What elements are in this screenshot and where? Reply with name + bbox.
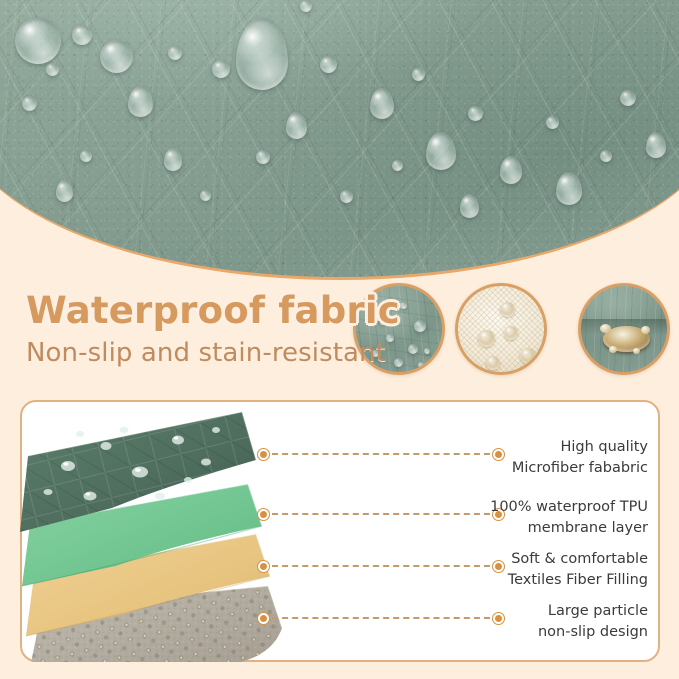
water-bead <box>486 356 500 370</box>
water-droplet <box>22 96 37 111</box>
water-droplet <box>72 25 92 45</box>
connector-dot-start <box>258 509 269 520</box>
water-droplet <box>468 106 483 121</box>
page-subtitle: Non-slip and stain-resistant <box>26 338 400 368</box>
water-droplet <box>546 116 559 129</box>
water-droplet <box>460 194 479 218</box>
layer-label-line2: membrane layer <box>478 518 648 539</box>
water-droplet <box>418 362 424 368</box>
water-droplet <box>300 0 312 12</box>
layer-label-line1: Soft & comfortable <box>511 551 648 567</box>
layer-label-line1: High quality <box>560 439 648 455</box>
spill-splash <box>609 346 617 353</box>
water-bead <box>478 330 495 347</box>
water-droplet <box>500 156 522 184</box>
connector-dot-start <box>258 561 269 572</box>
connector-dash <box>272 513 490 515</box>
water-droplet <box>412 68 425 81</box>
layer-label-tpu: 100% waterproof TPU membrane layer <box>478 497 648 538</box>
layer-label-line1: 100% waterproof TPU <box>490 499 648 515</box>
connector-dot-start <box>258 449 269 460</box>
water-droplet <box>168 46 182 60</box>
page-title: Waterproof fabric <box>26 292 400 331</box>
water-bead <box>504 326 518 340</box>
connector-dash <box>272 617 490 619</box>
layer-label-line2: Microfiber fababric <box>478 458 648 479</box>
connector-line-4 <box>258 612 504 624</box>
connector-line-1 <box>258 448 504 460</box>
headline-block: Waterproof fabric Non-slip and stain-res… <box>26 292 400 368</box>
spill-splash <box>600 324 611 333</box>
layer-label-filling: Soft & comfortable Textiles Fiber Fillin… <box>478 549 648 590</box>
water-droplet <box>15 18 61 64</box>
detail-circle-water-beading-cream[interactable] <box>455 283 547 375</box>
infographic-canvas: Waterproof fabric Non-slip and stain-res… <box>0 0 679 679</box>
water-droplet <box>556 172 582 205</box>
layer-label-non-slip: Large particle non-slip design <box>478 601 648 642</box>
connector-dash <box>272 565 490 567</box>
layer-label-line1: Large particle <box>548 603 648 619</box>
water-droplet <box>424 348 430 354</box>
water-droplet <box>286 112 307 139</box>
water-droplet <box>212 60 230 78</box>
water-droplet <box>600 150 612 162</box>
layer-label-line2: Textiles Fiber Filling <box>478 570 648 591</box>
layer-label-line2: non-slip design <box>478 622 648 643</box>
spill-splash <box>641 326 650 334</box>
water-droplet <box>340 190 353 203</box>
water-droplet <box>164 148 182 171</box>
water-droplet <box>80 150 92 162</box>
water-droplet <box>56 180 73 202</box>
water-droplet <box>46 63 59 76</box>
connector-dot-start <box>258 613 269 624</box>
water-droplet <box>646 132 666 158</box>
water-droplet <box>256 150 270 164</box>
connector-dash <box>272 453 490 455</box>
hero-fabric-swatch <box>0 0 679 280</box>
water-droplet <box>414 320 426 332</box>
layer-label-microfiber: High quality Microfiber fababric <box>478 437 648 478</box>
water-droplet <box>370 88 394 119</box>
water-bead <box>520 348 536 364</box>
water-droplet <box>128 86 153 117</box>
connector-line-2 <box>258 508 504 520</box>
water-droplet <box>320 56 337 73</box>
spill-splash <box>633 348 640 354</box>
detail-circle-coffee-spill[interactable] <box>578 283 670 375</box>
water-droplet <box>620 90 636 106</box>
water-bead <box>500 302 515 317</box>
connector-line-3 <box>258 560 504 572</box>
fabric-grain-texture <box>0 0 679 277</box>
water-droplet <box>392 160 403 171</box>
water-droplet <box>100 40 133 73</box>
water-droplet <box>200 190 211 201</box>
water-droplet <box>408 344 418 354</box>
water-droplet <box>400 302 407 309</box>
